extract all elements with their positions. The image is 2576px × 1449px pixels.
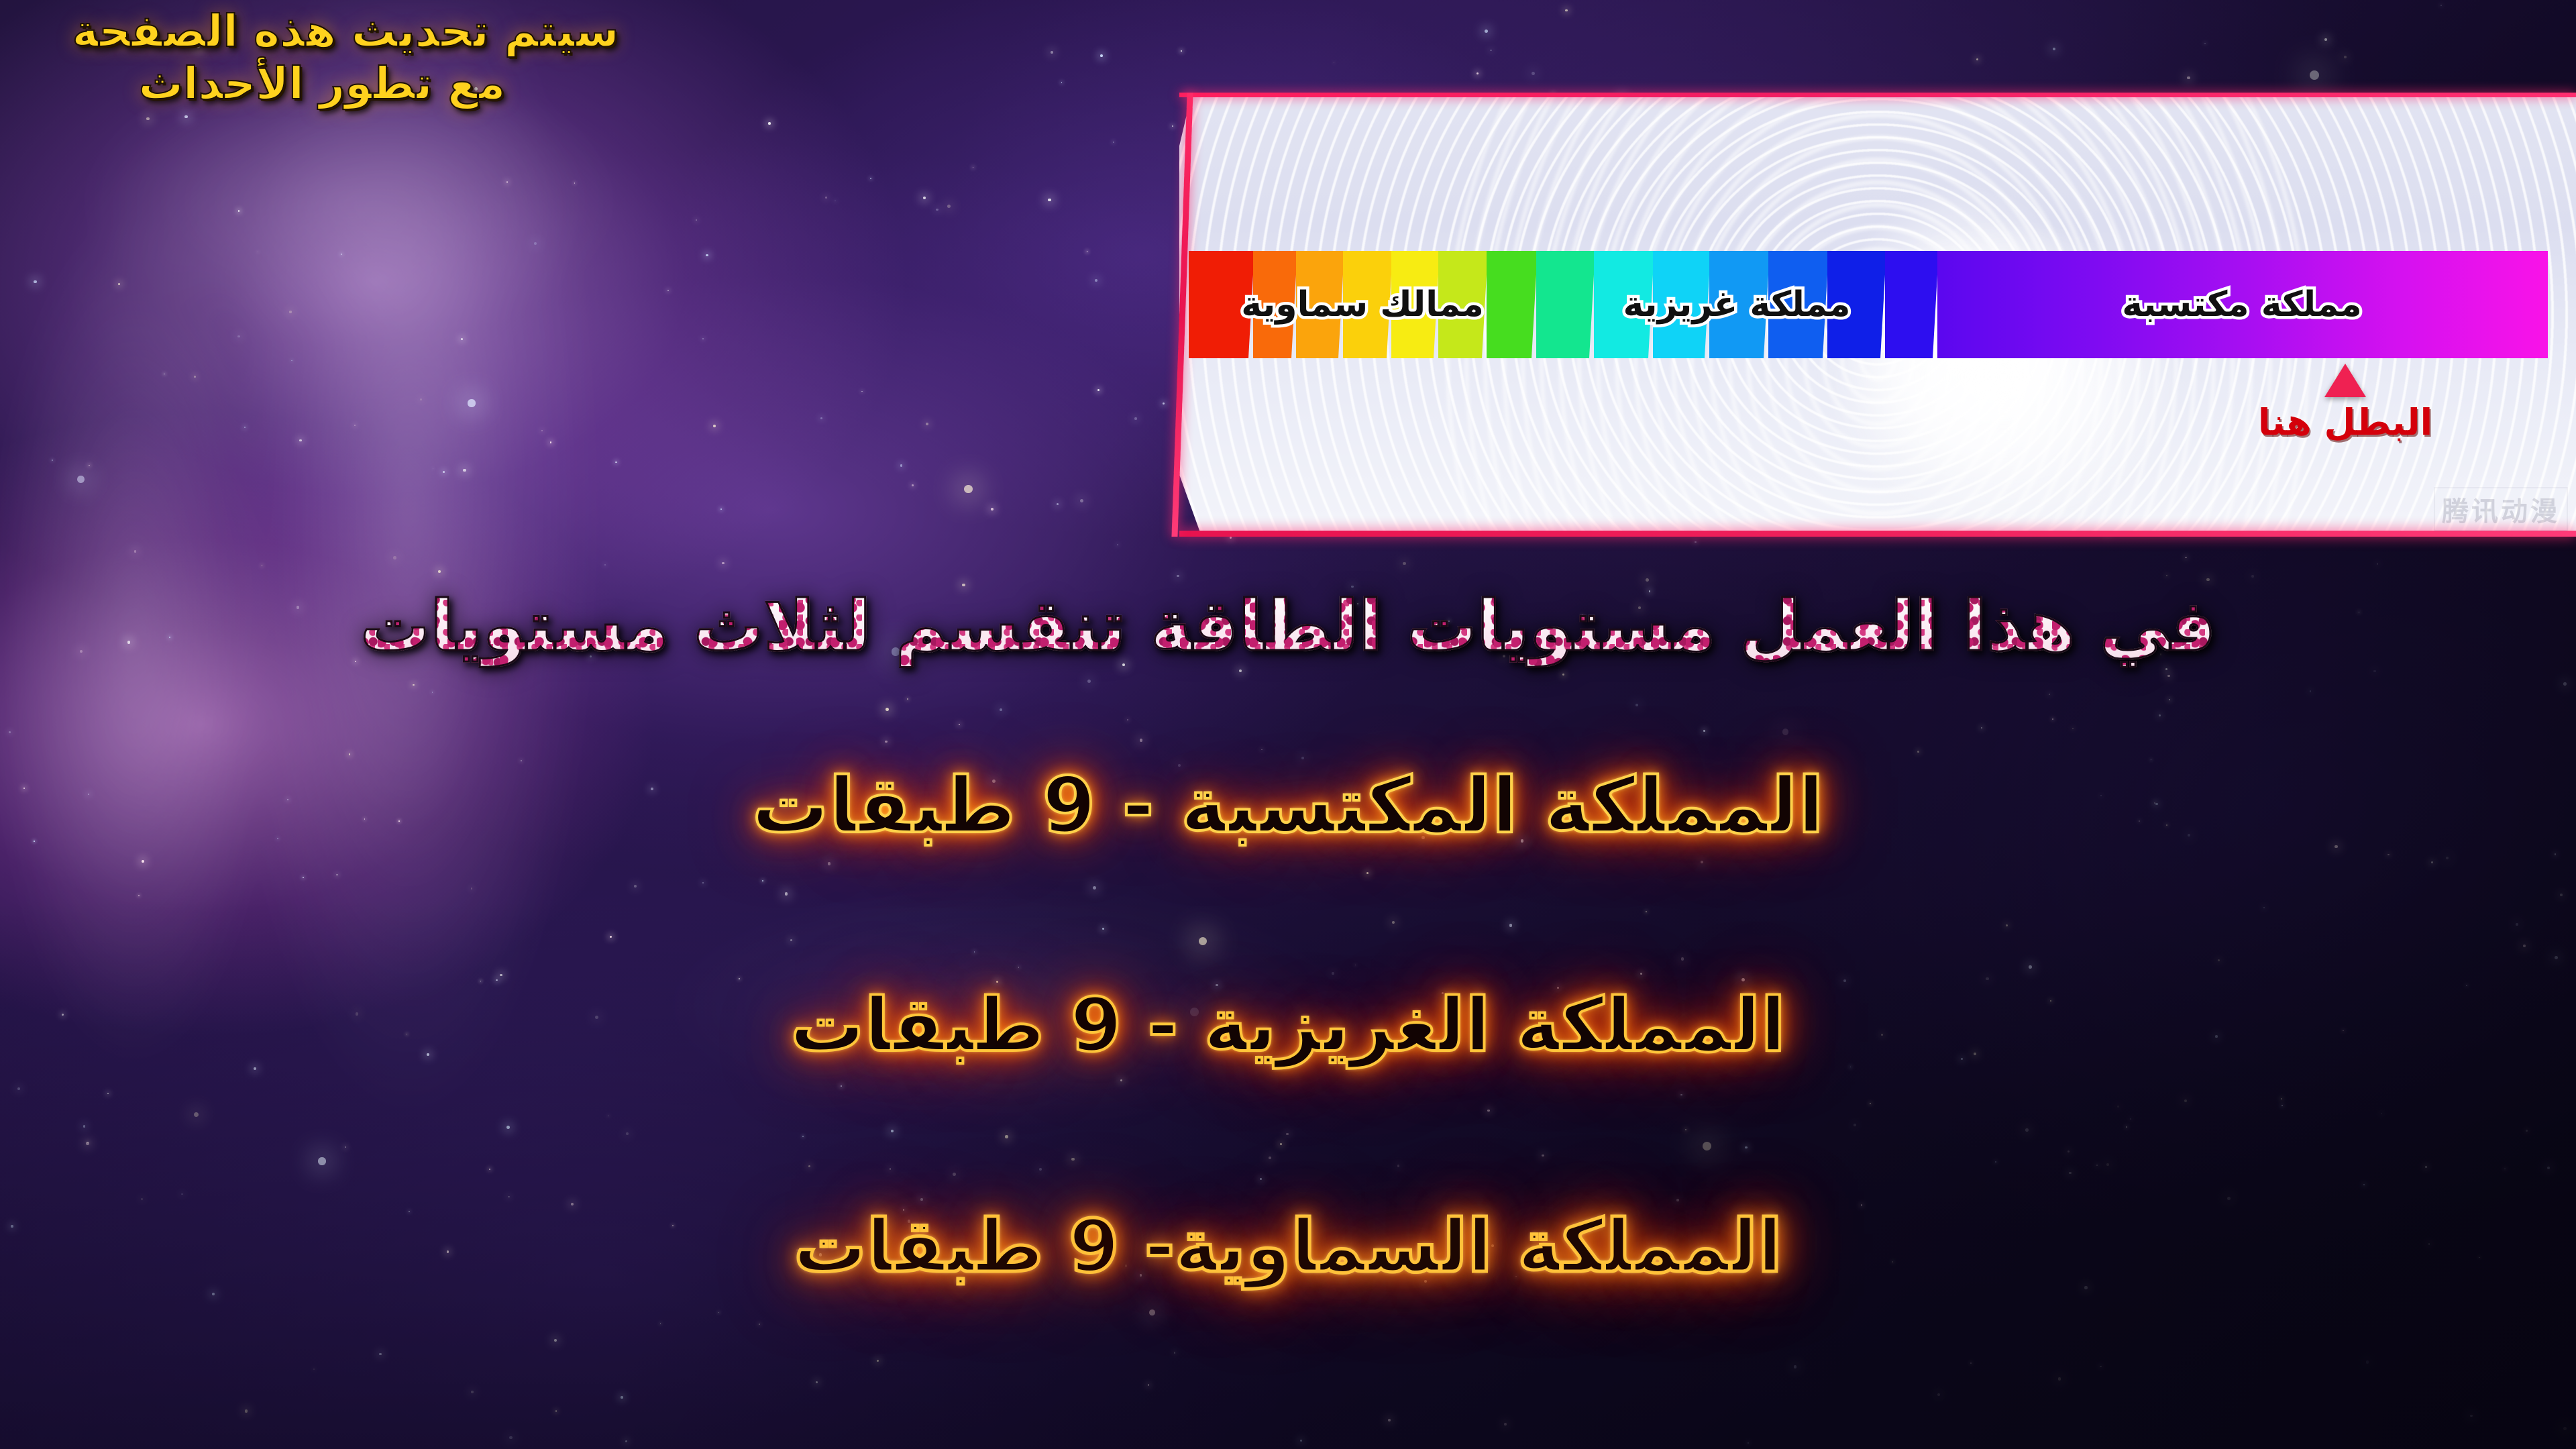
hero-position-marker: البطل هنا (2245, 364, 2446, 443)
triangle-up-icon (2324, 364, 2366, 397)
color-bar-segment (1253, 251, 1297, 358)
panel-border-bottom (1179, 531, 2576, 537)
color-bar-segment (1343, 251, 1393, 358)
tier-line-celestial-kingdom: المملكة السماوية- 9 طبقات (0, 1205, 2576, 1289)
power-level-color-bar (1189, 251, 2576, 358)
panel-watermark: 腾讯动漫 (2434, 487, 2568, 531)
power-level-panel: ممالك سماوية مملكة غريزية مملكة مكتسبة ا… (1179, 93, 2576, 537)
scene-stage: سيتم تحديث هذه الصفحة مع تطور الأحداث مم… (0, 0, 2576, 1449)
color-bar-segment (1438, 251, 1488, 358)
color-bar-segment (1768, 251, 1829, 358)
color-bar-segment (1827, 251, 1886, 358)
color-bar-segment (1487, 251, 1538, 358)
color-bar-segment (1536, 251, 1595, 358)
color-bar-segment (1296, 251, 1344, 358)
tier-text: المملكة المكتسبة - 9 طبقات (752, 761, 1824, 850)
color-bar-segment (1594, 251, 1654, 358)
color-bar-segment (1709, 251, 1770, 358)
headline-text: في هذا العمل مستويات الطاقة تنقسم لثلاث … (360, 585, 2216, 667)
headline: في هذا العمل مستويات الطاقة تنقسم لثلاث … (0, 585, 2576, 667)
color-bar-segment (1391, 251, 1440, 358)
tier-text: المملكة السماوية- 9 طبقات (794, 1205, 1782, 1289)
color-bar-segment (1189, 251, 1254, 358)
panel-border-top (1179, 93, 2576, 97)
color-bar-segment (1937, 251, 2548, 358)
hero-position-label: البطل هنا (2245, 401, 2446, 443)
tier-text: المملكة الغريزية - 9 طبقات (790, 982, 1786, 1068)
tier-line-acquired-kingdom: المملكة المكتسبة - 9 طبقات (0, 761, 2576, 850)
color-bar-segment (1885, 251, 1939, 358)
tier-line-instinctive-kingdom: المملكة الغريزية - 9 طبقات (0, 982, 2576, 1068)
color-bar-segment (1653, 251, 1711, 358)
